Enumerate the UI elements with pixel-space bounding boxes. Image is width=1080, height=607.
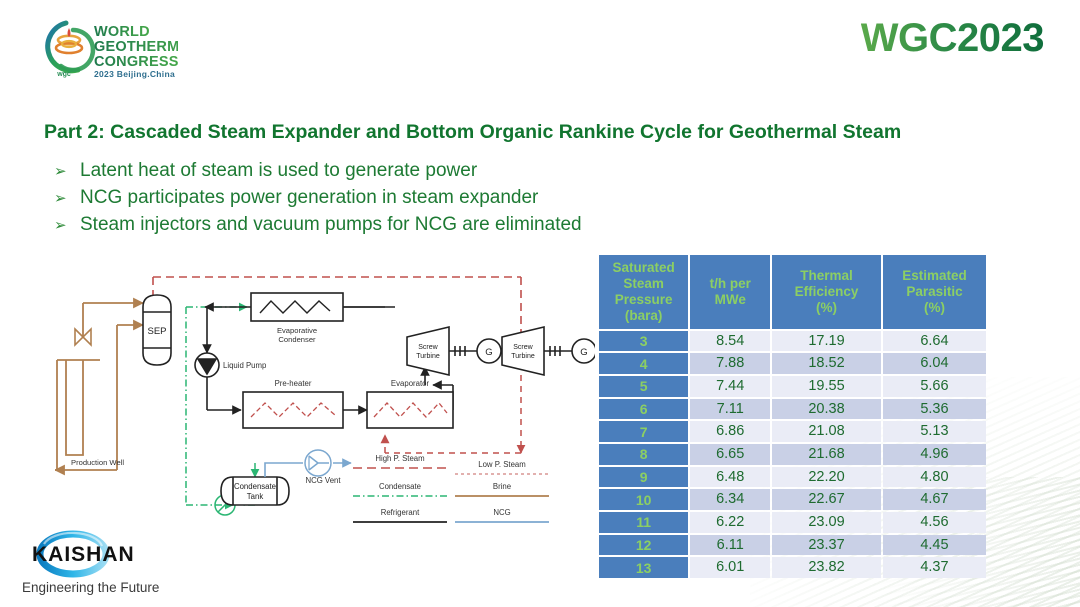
cell-pressure: 4	[599, 353, 688, 374]
kaishan-wordmark: KAISHAN	[32, 543, 135, 566]
table-header-row: Saturated Steam Pressure (bara) t/h per …	[599, 255, 986, 329]
arrow-bullet-icon: ➢	[54, 216, 80, 234]
table-row: 116.2223.094.56	[599, 512, 986, 533]
header-line: Efficiency	[774, 284, 879, 300]
cell-pressure: 13	[599, 557, 688, 578]
cell-estimated-parasitic: 4.37	[883, 557, 986, 578]
table-row: 76.8621.085.13	[599, 421, 986, 442]
header-line: Saturated	[601, 260, 686, 276]
condensate-tank-label-2: Tank	[247, 492, 264, 501]
slide-canvas: wgc WORLD GEOTHERMAL CONGRESS 2023 Beiji…	[0, 0, 1080, 607]
cell-estimated-parasitic: 5.36	[883, 399, 986, 420]
table-row: 136.0123.824.37	[599, 557, 986, 578]
event-title: WGC2023	[861, 16, 1044, 61]
cell-estimated-parasitic: 4.56	[883, 512, 986, 533]
world-geothermal-congress-logo: wgc WORLD GEOTHERMAL CONGRESS 2023 Beiji…	[28, 14, 178, 82]
cell-pressure: 6	[599, 399, 688, 420]
kaishan-tagline: Engineering the Future	[22, 580, 159, 595]
cell-th-per-mwe: 6.22	[690, 512, 770, 533]
cell-estimated-parasitic: 4.67	[883, 489, 986, 510]
bullet-list: ➢ Latent heat of steam is used to genera…	[54, 160, 582, 241]
header-line: Parasitic	[885, 284, 984, 300]
legend-label-refrigerant: Refrigerant	[381, 508, 420, 517]
cell-estimated-parasitic: 5.66	[883, 376, 986, 397]
cell-pressure: 8	[599, 444, 688, 465]
legend-label-brine: Brine	[493, 482, 511, 491]
cell-th-per-mwe: 6.34	[690, 489, 770, 510]
cell-th-per-mwe: 6.86	[690, 421, 770, 442]
bullet-text: NCG participates power generation in ste…	[80, 187, 538, 209]
screw-turbine-2-label-2: Turbine	[511, 353, 535, 360]
logo-line-2: GEOTHERMAL	[94, 39, 178, 55]
cell-th-per-mwe: 8.54	[690, 331, 770, 352]
screw-turbine-1-label-1: Screw	[418, 344, 438, 351]
header-line: Steam	[601, 276, 686, 292]
performance-table: Saturated Steam Pressure (bara) t/h per …	[597, 253, 988, 580]
header-line: MWe	[692, 292, 768, 308]
table-row: 106.3422.674.67	[599, 489, 986, 510]
evaporative-condenser-label-1: Evaporative	[277, 326, 317, 335]
cell-estimated-parasitic: 6.04	[883, 353, 986, 374]
cell-th-per-mwe: 6.65	[690, 444, 770, 465]
ncg-vacuum-fan-icon	[305, 450, 331, 476]
arrow-bullet-icon: ➢	[54, 162, 80, 180]
ncg-line	[265, 463, 351, 477]
evaporative-condenser-label-2: Condenser	[278, 335, 316, 344]
bullet-text: Steam injectors and vacuum pumps for NCG…	[80, 214, 582, 236]
cell-thermal-efficiency: 23.09	[772, 512, 881, 533]
preheater-label: Pre-heater	[275, 379, 312, 388]
process-flow-diagram: Production Well SEP	[55, 255, 595, 540]
cell-thermal-efficiency: 22.67	[772, 489, 881, 510]
brine-line	[55, 303, 143, 470]
cell-thermal-efficiency: 21.68	[772, 444, 881, 465]
cell-thermal-efficiency: 18.52	[772, 353, 881, 374]
diagram-legend: High P. Steam Low P. Steam Condensate Br…	[353, 454, 549, 522]
list-item: ➢ Latent heat of steam is used to genera…	[54, 160, 582, 182]
cell-th-per-mwe: 7.88	[690, 353, 770, 374]
header-line: Pressure	[601, 292, 686, 308]
legend-label-ncg: NCG	[493, 508, 510, 517]
cell-thermal-efficiency: 20.38	[772, 399, 881, 420]
page-title: Part 2: Cascaded Steam Expander and Bott…	[44, 121, 901, 144]
liquid-pump-icon	[195, 353, 219, 377]
screw-turbine-2	[502, 327, 544, 375]
cell-estimated-parasitic: 4.80	[883, 467, 986, 488]
production-well-label: Production Well	[71, 458, 124, 467]
wgc-mark-text: wgc	[56, 71, 71, 78]
cell-th-per-mwe: 7.44	[690, 376, 770, 397]
header-line: Estimated	[885, 268, 984, 284]
column-header-pressure: Saturated Steam Pressure (bara)	[599, 255, 688, 329]
header-line: (%)	[885, 300, 984, 316]
list-item: ➢ NCG participates power generation in s…	[54, 187, 582, 209]
legend-label-condensate: Condensate	[379, 482, 421, 491]
table-row: 86.6521.684.96	[599, 444, 986, 465]
cell-thermal-efficiency: 22.20	[772, 467, 881, 488]
evaporator-label: Evaporator	[391, 379, 430, 388]
cell-thermal-efficiency: 19.55	[772, 376, 881, 397]
header-line: (%)	[774, 300, 879, 316]
cell-pressure: 12	[599, 535, 688, 556]
cell-pressure: 5	[599, 376, 688, 397]
cell-th-per-mwe: 6.01	[690, 557, 770, 578]
legend-label-low-p-steam: Low P. Steam	[478, 460, 526, 469]
wgc-emblem-icon	[48, 23, 93, 71]
table-row: 126.1123.374.45	[599, 535, 986, 556]
cell-pressure: 9	[599, 467, 688, 488]
cell-estimated-parasitic: 5.13	[883, 421, 986, 442]
table-row: 57.4419.555.66	[599, 376, 986, 397]
cell-estimated-parasitic: 6.64	[883, 331, 986, 352]
table-body: 38.5417.196.64 47.8818.526.04 57.4419.55…	[599, 331, 986, 578]
kaishan-logo: KAISHAN Engineering the Future	[18, 528, 188, 600]
cell-pressure: 7	[599, 421, 688, 442]
column-header-thermal-efficiency: Thermal Efficiency (%)	[772, 255, 881, 329]
turbine-2-shaft	[544, 346, 572, 356]
cell-pressure: 10	[599, 489, 688, 510]
logo-line-1: WORLD	[94, 24, 150, 40]
cell-pressure: 11	[599, 512, 688, 533]
legend-label-high-p-steam: High P. Steam	[375, 454, 424, 463]
list-item: ➢ Steam injectors and vacuum pumps for N…	[54, 214, 582, 236]
column-header-estimated-parasitic: Estimated Parasitic (%)	[883, 255, 986, 329]
cell-th-per-mwe: 6.48	[690, 467, 770, 488]
screw-turbine-2-label-1: Screw	[513, 344, 533, 351]
header-line: (bara)	[601, 308, 686, 324]
cell-thermal-efficiency: 21.08	[772, 421, 881, 442]
cell-pressure: 3	[599, 331, 688, 352]
cell-thermal-efficiency: 23.82	[772, 557, 881, 578]
separator-label: SEP	[147, 326, 166, 337]
logo-line-3: CONGRESS	[94, 54, 178, 70]
header-line: t/h per	[692, 276, 768, 292]
ncg-vent-label: NCG Vent	[305, 476, 341, 485]
generator-1-label: G	[485, 347, 492, 358]
cell-th-per-mwe: 7.11	[690, 399, 770, 420]
cell-estimated-parasitic: 4.45	[883, 535, 986, 556]
header-line: Thermal	[774, 268, 879, 284]
table-row: 47.8818.526.04	[599, 353, 986, 374]
cell-th-per-mwe: 6.11	[690, 535, 770, 556]
turbine-1-shaft	[449, 346, 477, 356]
logo-line-4: 2023 Beijing.China	[94, 69, 175, 79]
cell-estimated-parasitic: 4.96	[883, 444, 986, 465]
bullet-text: Latent heat of steam is used to generate…	[80, 160, 477, 182]
cell-thermal-efficiency: 17.19	[772, 331, 881, 352]
table-row: 38.5417.196.64	[599, 331, 986, 352]
generator-2-label: G	[580, 347, 587, 358]
screw-turbine-1	[407, 327, 449, 375]
table-row: 96.4822.204.80	[599, 467, 986, 488]
table-row: 67.1120.385.36	[599, 399, 986, 420]
cell-thermal-efficiency: 23.37	[772, 535, 881, 556]
liquid-pump-label: Liquid Pump	[223, 361, 267, 370]
column-header-th-per-mwe: t/h per MWe	[690, 255, 770, 329]
condensate-tank-label-1: Condensate	[234, 482, 276, 491]
screw-turbine-1-label-2: Turbine	[416, 353, 440, 360]
arrow-bullet-icon: ➢	[54, 189, 80, 207]
